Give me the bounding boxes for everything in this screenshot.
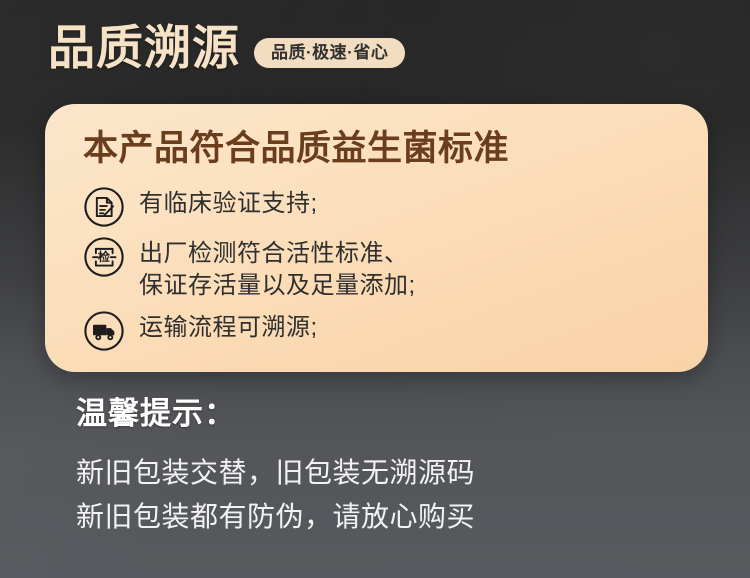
list-item-line: 有临床验证支持; bbox=[139, 188, 318, 220]
standards-card: 本产品符合品质益生菌标准 有临床验证支持; bbox=[45, 104, 708, 372]
document-check-icon bbox=[83, 186, 125, 228]
card-title: 本产品符合品质益生菌标准 bbox=[45, 104, 708, 169]
svg-text:检: 检 bbox=[98, 250, 110, 264]
list-item-line: 出厂检测符合活性标准、 bbox=[139, 238, 416, 270]
list-item-text: 出厂检测符合活性标准、 保证存活量以及足量添加; bbox=[139, 235, 416, 302]
page-header: 品质溯源 品质·极速·省心 bbox=[48, 24, 405, 71]
delivery-truck-icon bbox=[83, 310, 125, 352]
notice-line: 新旧包装都有防伪，请放心购买 bbox=[76, 495, 716, 539]
tagline-badge: 品质·极速·省心 bbox=[254, 38, 405, 68]
list-item-text: 有临床验证支持; bbox=[139, 185, 318, 220]
list-item-line: 保证存活量以及足量添加; bbox=[139, 270, 416, 302]
promo-page: 品质溯源 品质·极速·省心 本产品符合品质益生菌标准 bbox=[0, 0, 750, 578]
list-item: 检 出厂检测符合活性标准、 保证存活量以及足量添加; bbox=[83, 235, 708, 302]
list-item-text: 运输流程可溯源; bbox=[139, 309, 318, 344]
list-item: 运输流程可溯源; bbox=[83, 309, 708, 352]
list-item: 有临床验证支持; bbox=[83, 185, 708, 228]
page-title: 品质溯源 bbox=[48, 24, 240, 71]
feature-list: 有临床验证支持; 检 出厂检测符合活性标准、 bbox=[45, 169, 708, 352]
inspection-seal-icon: 检 bbox=[83, 236, 125, 278]
notice-line: 新旧包装交替，旧包装无溯源码 bbox=[76, 451, 716, 495]
notice-section: 温馨提示： 新旧包装交替，旧包装无溯源码 新旧包装都有防伪，请放心购买 bbox=[76, 398, 716, 539]
notice-title: 温馨提示： bbox=[76, 398, 716, 429]
list-item-line: 运输流程可溯源; bbox=[139, 312, 318, 344]
